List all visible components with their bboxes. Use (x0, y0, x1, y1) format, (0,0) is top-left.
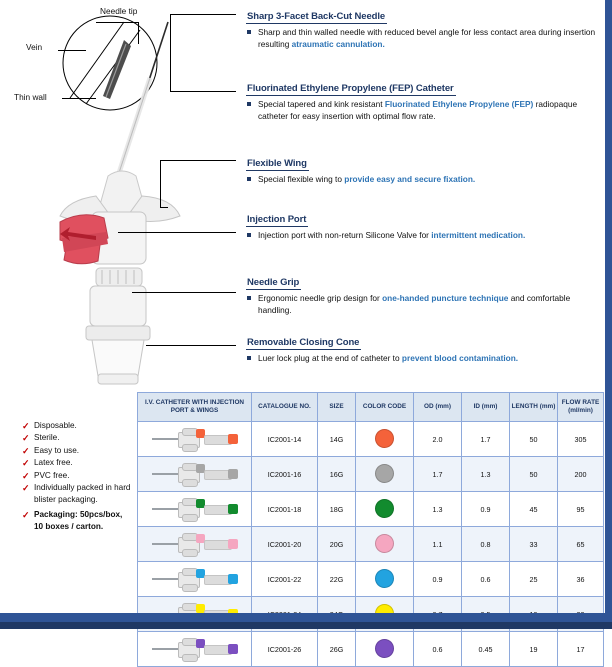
cell-id: 0.6 (462, 562, 510, 597)
color-swatch (375, 639, 394, 658)
cell-od: 2.0 (414, 422, 462, 457)
label-thin-wall: Thin wall (14, 92, 47, 102)
cell-product-image (138, 527, 252, 562)
leader-vein (58, 50, 86, 51)
callout-title: Needle Grip (246, 277, 301, 290)
cell-od: 0.9 (414, 562, 462, 597)
callout-text-highlight: one-handed puncture technique (382, 293, 508, 303)
cell-length: 50 (510, 422, 558, 457)
color-swatch (375, 534, 394, 553)
cell-product-image (138, 457, 252, 492)
col-header-id: ID (mm) (462, 393, 510, 422)
col-header-length: LENGTH (mm) (510, 393, 558, 422)
feature-list: ✓Disposable. ✓Sterile. ✓Easy to use. ✓La… (22, 420, 142, 534)
packaging-line-2: 10 boxes / carton. (22, 521, 142, 533)
color-swatch (375, 499, 394, 518)
cannula-icon (152, 637, 238, 661)
cell-catalogue: IC2001-20 (252, 527, 318, 562)
feature-text: Easy to use. (34, 446, 79, 455)
table-body: IC2001-14 14G 2.0 1.7 50 305 IC20 (138, 422, 604, 667)
callout-text-highlight: prevent blood contamination. (402, 353, 518, 363)
col-header-color: COLOR CODE (356, 393, 414, 422)
cell-size: 26G (318, 632, 356, 667)
cell-color (356, 422, 414, 457)
cannula-drawing (0, 0, 240, 400)
cell-od: 1.1 (414, 527, 462, 562)
feature-text: Latex free. (34, 458, 73, 467)
cell-size: 22G (318, 562, 356, 597)
cell-id: 0.8 (462, 527, 510, 562)
callout-text-pre: Special flexible wing to (258, 174, 344, 184)
check-icon: ✓ (22, 420, 30, 432)
cannula-icon (152, 462, 238, 486)
callout-leader-3 (160, 160, 236, 161)
feature-text: PVC free. (34, 471, 70, 480)
cell-catalogue: IC2001-16 (252, 457, 318, 492)
cell-product-image (138, 562, 252, 597)
callout-flexible-wing: Flexible Wing Special flexible wing to p… (246, 153, 598, 186)
cannula-icon (152, 532, 238, 556)
cell-length: 25 (510, 562, 558, 597)
callout-text-pre: Injection port with non-return Silicone … (258, 230, 431, 240)
cell-product-image (138, 632, 252, 667)
cell-flow: 200 (558, 457, 604, 492)
callout-leader-5 (132, 292, 236, 293)
color-swatch (375, 464, 394, 483)
cell-od: 1.3 (414, 492, 462, 527)
table-row: IC2001-14 14G 2.0 1.7 50 305 (138, 422, 604, 457)
cannula-icon (152, 497, 238, 521)
page-bottom-bar-accent (0, 622, 612, 629)
cell-size: 14G (318, 422, 356, 457)
check-icon: ✓ (22, 457, 30, 469)
cell-length: 45 (510, 492, 558, 527)
callout-body: Ergonomic needle grip design for one-han… (246, 293, 598, 316)
cell-flow: 17 (558, 632, 604, 667)
callout-text-pre: Ergonomic needle grip design for (258, 293, 382, 303)
color-swatch (375, 429, 394, 448)
callout-injection-port: Injection Port Injection port with non-r… (246, 209, 598, 242)
cell-id: 0.45 (462, 632, 510, 667)
callout-text-highlight: Fluorinated Ethylene Propylene (FEP) (385, 99, 533, 109)
page-right-edge-bar (605, 0, 612, 629)
check-icon: ✓ (22, 470, 30, 482)
table-row: IC2001-26 26G 0.6 0.45 19 17 (138, 632, 604, 667)
cell-id: 0.9 (462, 492, 510, 527)
callout-text-highlight: intermittent medication. (431, 230, 525, 240)
cell-length: 33 (510, 527, 558, 562)
callout-text-highlight: atraumatic cannulation. (292, 39, 385, 49)
product-datasheet-page: Needle tip Vein Thin wall Sharp 3-Facet … (0, 0, 612, 629)
callout-body: Injection port with non-return Silicone … (246, 230, 598, 242)
callout-body: Luer lock plug at the end of catheter to… (246, 353, 598, 365)
callout-text-pre: Special tapered and kink resistant (258, 99, 385, 109)
list-item: ✓PVC free. (22, 470, 142, 482)
cell-length: 50 (510, 457, 558, 492)
list-item: ✓Easy to use. (22, 445, 142, 457)
col-header-od: OD (mm) (414, 393, 462, 422)
feature-text: Individually packed in hard blister pack… (34, 483, 131, 504)
callout-leader-1-v (170, 14, 171, 92)
bullet-icon (247, 102, 251, 106)
list-item: ✓Latex free. (22, 457, 142, 469)
cell-flow: 305 (558, 422, 604, 457)
cannula-icon (152, 567, 238, 591)
check-icon: ✓ (22, 432, 30, 444)
leader-needle-tip (96, 22, 138, 23)
cell-catalogue: IC2001-22 (252, 562, 318, 597)
cell-color (356, 632, 414, 667)
cannula-icon (152, 427, 238, 451)
cell-length: 19 (510, 632, 558, 667)
callout-leader-2 (170, 91, 236, 92)
callout-fep-catheter: Fluorinated Ethylene Propylene (FEP) Cat… (246, 78, 598, 122)
callout-title: Flexible Wing (246, 158, 309, 171)
list-item: ✓Sterile. (22, 432, 142, 444)
list-item: ✓Disposable. (22, 420, 142, 432)
check-icon: ✓ (22, 509, 30, 521)
table-row: IC2001-22 22G 0.9 0.6 25 36 (138, 562, 604, 597)
callout-title: Removable Closing Cone (246, 337, 361, 350)
leader-needle-tip-v (138, 22, 139, 44)
cell-product-image (138, 422, 252, 457)
feature-text: Disposable. (34, 421, 77, 430)
callout-leader-1 (170, 14, 236, 15)
check-icon: ✓ (22, 445, 30, 457)
col-header-catalogue: CATALOGUE NO. (252, 393, 318, 422)
cell-size: 20G (318, 527, 356, 562)
cell-catalogue: IC2001-26 (252, 632, 318, 667)
table-header-row: I.V. CATHETER WITH INJECTION PORT & WING… (138, 393, 604, 422)
label-vein: Vein (26, 42, 42, 52)
cell-od: 0.6 (414, 632, 462, 667)
callout-body: Special flexible wing to provide easy an… (246, 174, 598, 186)
callout-removable-closing-cone: Removable Closing Cone Luer lock plug at… (246, 332, 598, 365)
col-header-flow: FLOW RATE (ml/min) (558, 393, 604, 422)
callout-leader-6 (146, 345, 236, 346)
packaging-text-2: 10 boxes / carton. (34, 522, 103, 531)
list-item: ✓Individually packed in hard blister pac… (22, 482, 142, 507)
cell-size: 18G (318, 492, 356, 527)
callout-title: Sharp 3-Facet Back-Cut Needle (246, 11, 387, 24)
leader-thin-wall (62, 98, 96, 99)
callout-text-highlight: provide easy and secure fixation. (344, 174, 475, 184)
packaging-text-1: Packaging: 50pcs/box, (34, 510, 122, 519)
cell-color (356, 527, 414, 562)
table-row: IC2001-18 18G 1.3 0.9 45 95 (138, 492, 604, 527)
col-header-size: SIZE (318, 393, 356, 422)
bullet-icon (247, 356, 251, 360)
callout-sharp-needle: Sharp 3-Facet Back-Cut Needle Sharp and … (246, 6, 598, 50)
callout-leader-3-v (160, 160, 161, 208)
callout-needle-grip: Needle Grip Ergonomic needle grip design… (246, 272, 598, 316)
color-swatch (375, 569, 394, 588)
table-row: IC2001-20 20G 1.1 0.8 33 65 (138, 527, 604, 562)
callout-body: Sharp and thin walled needle with reduce… (246, 27, 598, 50)
cell-flow: 65 (558, 527, 604, 562)
bullet-icon (247, 30, 251, 34)
cell-product-image (138, 492, 252, 527)
cell-flow: 95 (558, 492, 604, 527)
table-row: IC2001-16 16G 1.7 1.3 50 200 (138, 457, 604, 492)
bullet-icon (247, 296, 251, 300)
label-needle-tip: Needle tip (100, 6, 137, 16)
cell-od: 1.7 (414, 457, 462, 492)
cell-color (356, 562, 414, 597)
check-icon: ✓ (22, 482, 30, 494)
iv-cannula-illustration: Needle tip Vein Thin wall (0, 0, 240, 400)
feature-text: Sterile. (34, 433, 59, 442)
cell-color (356, 457, 414, 492)
callout-title: Injection Port (246, 214, 308, 227)
callout-body: Special tapered and kink resistant Fluor… (246, 99, 598, 122)
col-header-product: I.V. CATHETER WITH INJECTION PORT & WING… (138, 393, 252, 422)
cell-color (356, 492, 414, 527)
cell-flow: 36 (558, 562, 604, 597)
cell-catalogue: IC2001-14 (252, 422, 318, 457)
cell-id: 1.3 (462, 457, 510, 492)
callout-text-pre: Luer lock plug at the end of catheter to (258, 353, 402, 363)
callout-title: Fluorinated Ethylene Propylene (FEP) Cat… (246, 83, 456, 96)
cell-id: 1.7 (462, 422, 510, 457)
callout-leader-3-b (160, 207, 168, 208)
bullet-icon (247, 233, 251, 237)
cell-size: 16G (318, 457, 356, 492)
callout-leader-4 (118, 232, 236, 233)
bullet-icon (247, 177, 251, 181)
cell-catalogue: IC2001-18 (252, 492, 318, 527)
packaging-line-1: ✓Packaging: 50pcs/box, (22, 509, 142, 521)
